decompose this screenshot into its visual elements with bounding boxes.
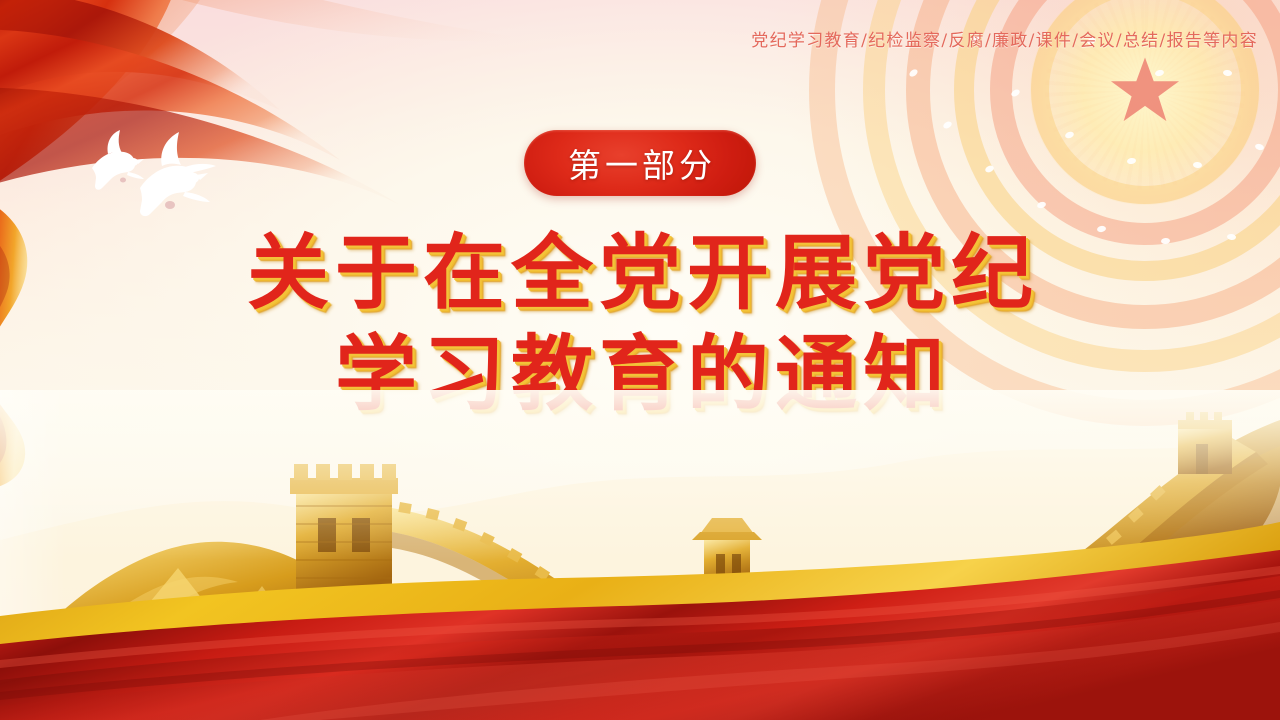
red-star-icon bbox=[1108, 53, 1182, 127]
section-badge-label: 第一部分 bbox=[564, 139, 716, 187]
header-tagline: 党纪学习教育/纪检监察/反腐/廉政/课件/会议/总结/报告等内容 bbox=[751, 26, 1258, 51]
section-badge[interactable]: 第一部分 bbox=[524, 130, 756, 196]
white-doves-icon bbox=[78, 126, 238, 218]
title-line-2: 学习教育的通知 bbox=[0, 327, 1280, 422]
slide-canvas: 党纪学习教育/纪检监察/反腐/廉政/课件/会议/总结/报告等内容 bbox=[0, 0, 1280, 720]
title-line-1: 关于在全党开展党纪 bbox=[0, 226, 1280, 321]
bottom-red-silk-ribbon bbox=[0, 520, 1280, 720]
page-title: 关于在全党开展党纪 学习教育的通知 bbox=[0, 226, 1280, 422]
